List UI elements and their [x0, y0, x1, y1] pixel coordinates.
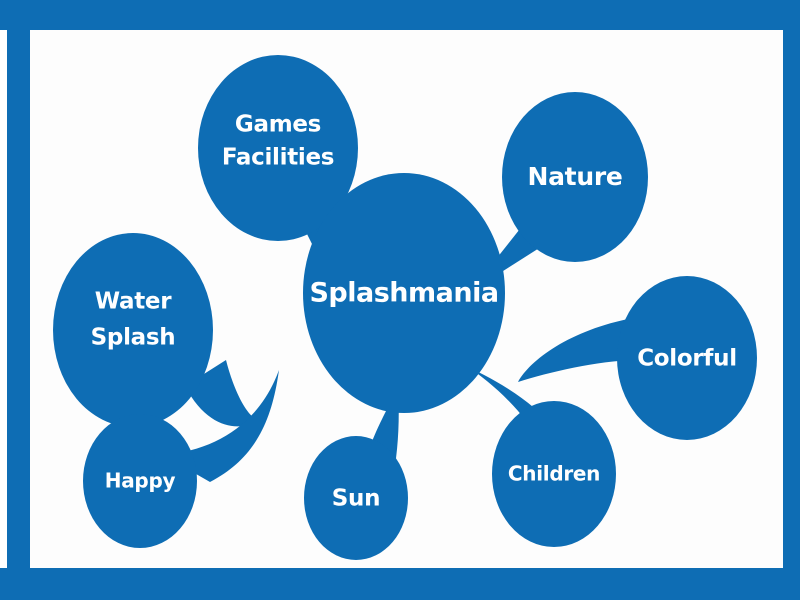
frame-border-left — [7, 30, 30, 570]
bubble-nature-label: Nature — [527, 162, 622, 191]
bubble-center-label: Splashmania — [309, 278, 498, 309]
poster-root: Games Facilities Nature Water Splash Col — [0, 0, 800, 600]
bubble-sun-label: Sun — [332, 486, 380, 512]
bubble-games-facilities-line2: Facilities — [222, 145, 334, 171]
bubble-center-splashmania[interactable]: Splashmania — [303, 173, 505, 413]
bubble-water-splash-line2: Splash — [91, 325, 176, 351]
frame-border-right — [783, 30, 800, 570]
bubble-water-splash-line1: Water — [95, 289, 172, 315]
bubble-games-facilities-line1: Games — [235, 112, 321, 138]
bubble-water-splash[interactable]: Water Splash — [53, 233, 258, 427]
frame-border-bottom — [0, 568, 800, 600]
frame-border-top — [0, 0, 800, 30]
mindmap-canvas: Games Facilities Nature Water Splash Col — [30, 30, 783, 568]
bubble-colorful-label: Colorful — [637, 346, 737, 372]
mindmap-svg: Games Facilities Nature Water Splash Col — [30, 30, 783, 568]
bubble-children-label: Children — [508, 462, 600, 486]
bubble-children[interactable]: Children — [470, 368, 616, 547]
bubble-happy-label: Happy — [105, 469, 176, 493]
